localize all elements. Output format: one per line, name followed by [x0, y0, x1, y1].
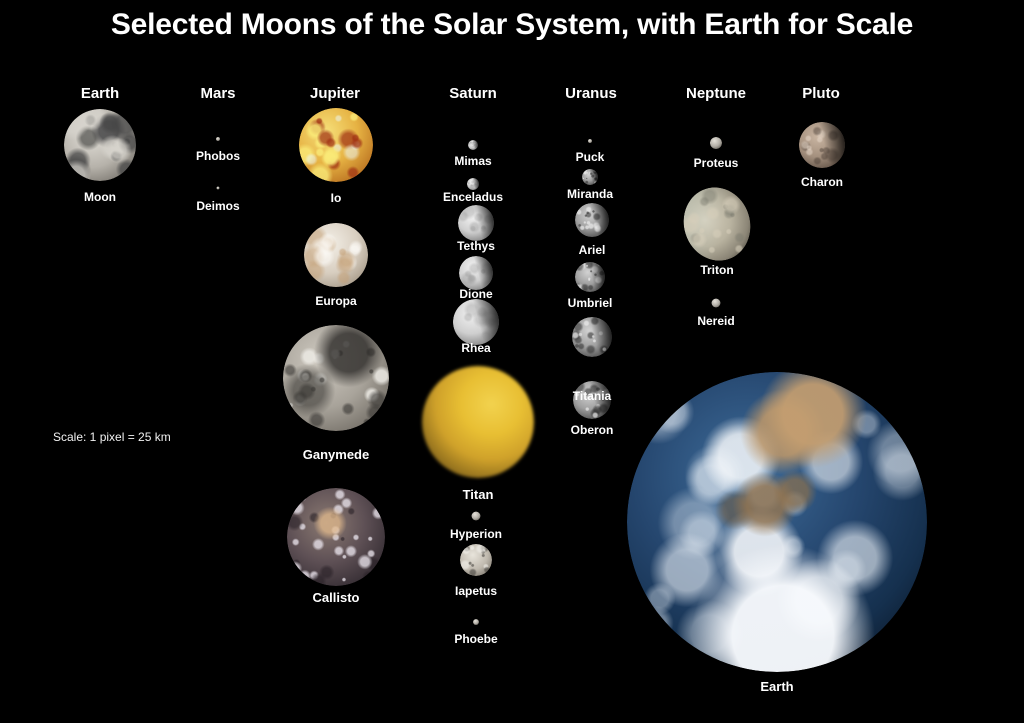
body-surface-earth — [627, 372, 927, 672]
infographic-canvas: Selected Moons of the Solar System, with… — [0, 0, 1024, 723]
body-ariel — [575, 203, 609, 237]
label-callisto: Callisto — [313, 590, 360, 605]
label-oberon: Oberon — [571, 423, 614, 437]
terminator-shadow — [458, 205, 494, 241]
column-header-pluto: Pluto — [802, 85, 840, 102]
body-proteus — [710, 137, 722, 149]
label-puck: Puck — [576, 150, 605, 164]
terminator-shadow — [575, 203, 609, 237]
terminator-shadow — [453, 299, 499, 345]
body-phobos — [216, 137, 220, 141]
body-surface-deimos — [217, 187, 220, 190]
body-nereid — [712, 299, 721, 308]
label-moon: Moon — [84, 190, 116, 204]
body-miranda — [582, 169, 598, 185]
label-nereid: Nereid — [697, 314, 734, 328]
terminator-shadow — [799, 122, 845, 168]
body-surface-phobos — [216, 137, 220, 141]
body-surface-hyperion — [472, 512, 481, 521]
terminator-shadow — [575, 262, 605, 292]
label-ariel: Ariel — [579, 243, 606, 257]
body-ganymede — [283, 325, 389, 431]
label-enceladus: Enceladus — [443, 190, 503, 204]
body-surface-phoebe — [473, 619, 479, 625]
body-surface-titan — [422, 366, 534, 478]
body-enceladus — [467, 178, 479, 190]
body-surface-europa — [304, 223, 368, 287]
label-proteus: Proteus — [694, 156, 739, 170]
label-io: Io — [331, 191, 342, 205]
body-triton — [674, 179, 760, 270]
terminator-shadow — [459, 256, 493, 290]
label-ganymede: Ganymede — [303, 447, 369, 462]
column-header-mars: Mars — [200, 85, 235, 102]
body-tethys — [458, 205, 494, 241]
label-tethys: Tethys — [457, 239, 495, 253]
body-puck — [588, 139, 592, 143]
body-dione — [459, 256, 493, 290]
column-header-jupiter: Jupiter — [310, 85, 360, 102]
terminator-shadow — [582, 169, 598, 185]
column-header-uranus: Uranus — [565, 85, 617, 102]
label-earth: Earth — [760, 679, 793, 694]
body-io — [299, 108, 373, 182]
terminator-shadow — [467, 178, 479, 190]
body-surface-puck — [588, 139, 592, 143]
body-hyperion — [472, 512, 481, 521]
body-surface-callisto — [287, 488, 385, 586]
body-surface-triton — [674, 179, 760, 270]
label-charon: Charon — [801, 175, 843, 189]
label-titan: Titan — [463, 487, 494, 502]
label-phoebe: Phoebe — [454, 632, 497, 646]
body-phoebe — [473, 619, 479, 625]
column-header-saturn: Saturn — [449, 85, 497, 102]
body-surface-iapetus — [460, 544, 492, 576]
label-europa: Europa — [315, 294, 356, 308]
body-surface-io — [299, 108, 373, 182]
body-surface-ganymede — [283, 325, 389, 431]
body-umbriel — [575, 262, 605, 292]
column-header-earth: Earth — [81, 85, 119, 102]
label-mimas: Mimas — [454, 154, 491, 168]
column-header-neptune: Neptune — [686, 85, 746, 102]
label-umbriel: Umbriel — [568, 296, 613, 310]
body-surface-moon — [64, 109, 136, 181]
label-deimos: Deimos — [196, 199, 239, 213]
body-earth — [627, 372, 927, 672]
body-surface-proteus — [710, 137, 722, 149]
label-hyperion: Hyperion — [450, 527, 502, 541]
label-titania: Titania — [573, 389, 611, 403]
body-callisto — [287, 488, 385, 586]
body-titania — [572, 317, 612, 357]
label-iapetus: Iapetus — [455, 584, 497, 598]
scale-note: Scale: 1 pixel = 25 km — [53, 430, 171, 444]
label-dione: Dione — [459, 287, 492, 301]
body-mimas — [468, 140, 478, 150]
body-rhea — [453, 299, 499, 345]
terminator-shadow — [572, 317, 612, 357]
body-surface-nereid — [712, 299, 721, 308]
body-moon — [64, 109, 136, 181]
body-iapetus — [460, 544, 492, 576]
label-phobos: Phobos — [196, 149, 240, 163]
body-titan — [422, 366, 534, 478]
page-title: Selected Moons of the Solar System, with… — [0, 8, 1024, 42]
label-rhea: Rhea — [461, 341, 490, 355]
body-europa — [304, 223, 368, 287]
label-miranda: Miranda — [567, 187, 613, 201]
terminator-shadow — [468, 140, 478, 150]
body-deimos — [217, 187, 220, 190]
label-triton: Triton — [700, 263, 733, 277]
body-charon — [799, 122, 845, 168]
